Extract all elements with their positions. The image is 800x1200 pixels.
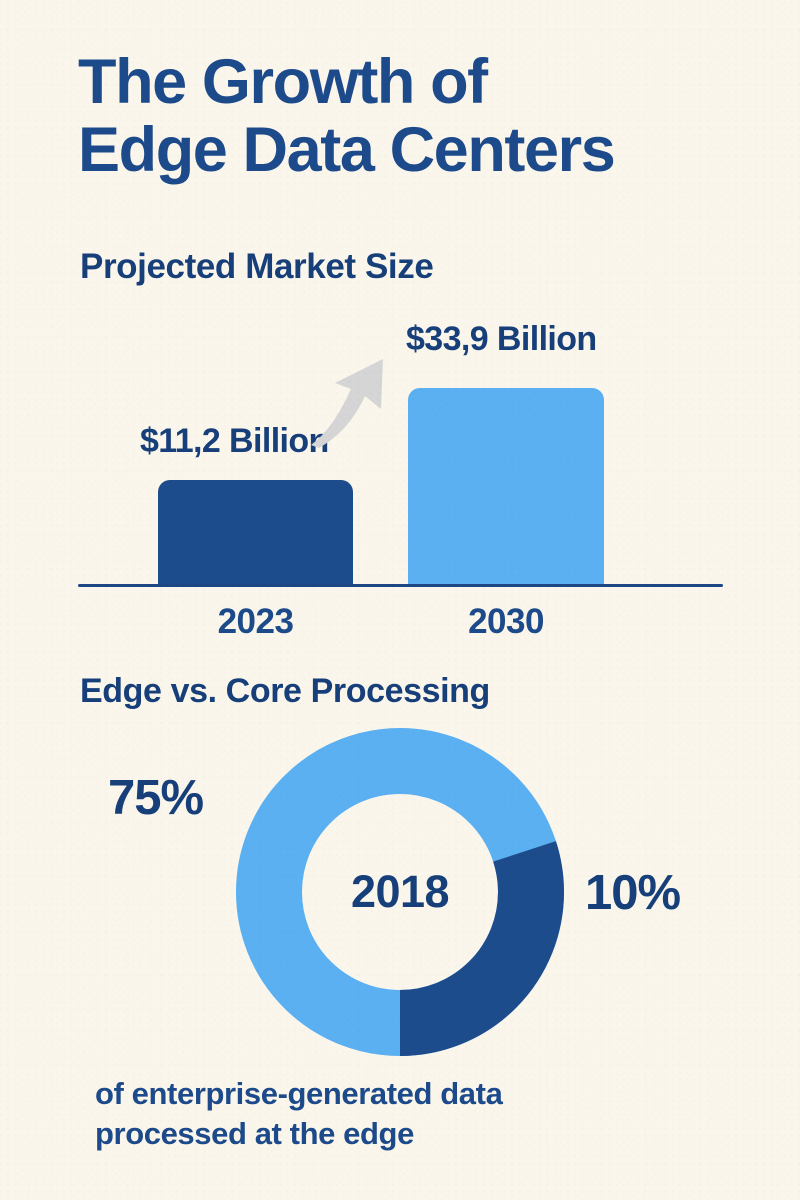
growth-arrow-icon (305, 355, 400, 450)
bar-2030 (408, 388, 604, 585)
donut-center-label: 2018 (236, 728, 564, 1056)
footer-note: of enterprise-generated data processed a… (95, 1074, 735, 1153)
bar-2023 (158, 480, 353, 585)
donut-chart: 2018 75% 10% (0, 718, 800, 1068)
chart-baseline-axis (78, 584, 723, 587)
infographic-poster: The Growth of Edge Data Centers Projecte… (0, 0, 800, 1200)
bar-category-label-2030: 2030 (408, 602, 604, 642)
market-section-heading: Projected Market Size (80, 247, 433, 287)
donut-section-heading: Edge vs. Core Processing (80, 672, 490, 711)
bar-value-label-2023: $11,2 Billion (140, 422, 329, 461)
bar-value-label-2030: $33,9 Billion (406, 320, 597, 359)
donut-label-left-percent: 75% (108, 770, 203, 826)
bar-category-label-2023: 2023 (158, 602, 353, 642)
donut-label-right-percent: 10% (585, 865, 680, 921)
page-title: The Growth of Edge Data Centers (78, 48, 758, 184)
bar-chart: $11,2 Billion $33,9 Billion 2023 2030 (0, 300, 800, 650)
